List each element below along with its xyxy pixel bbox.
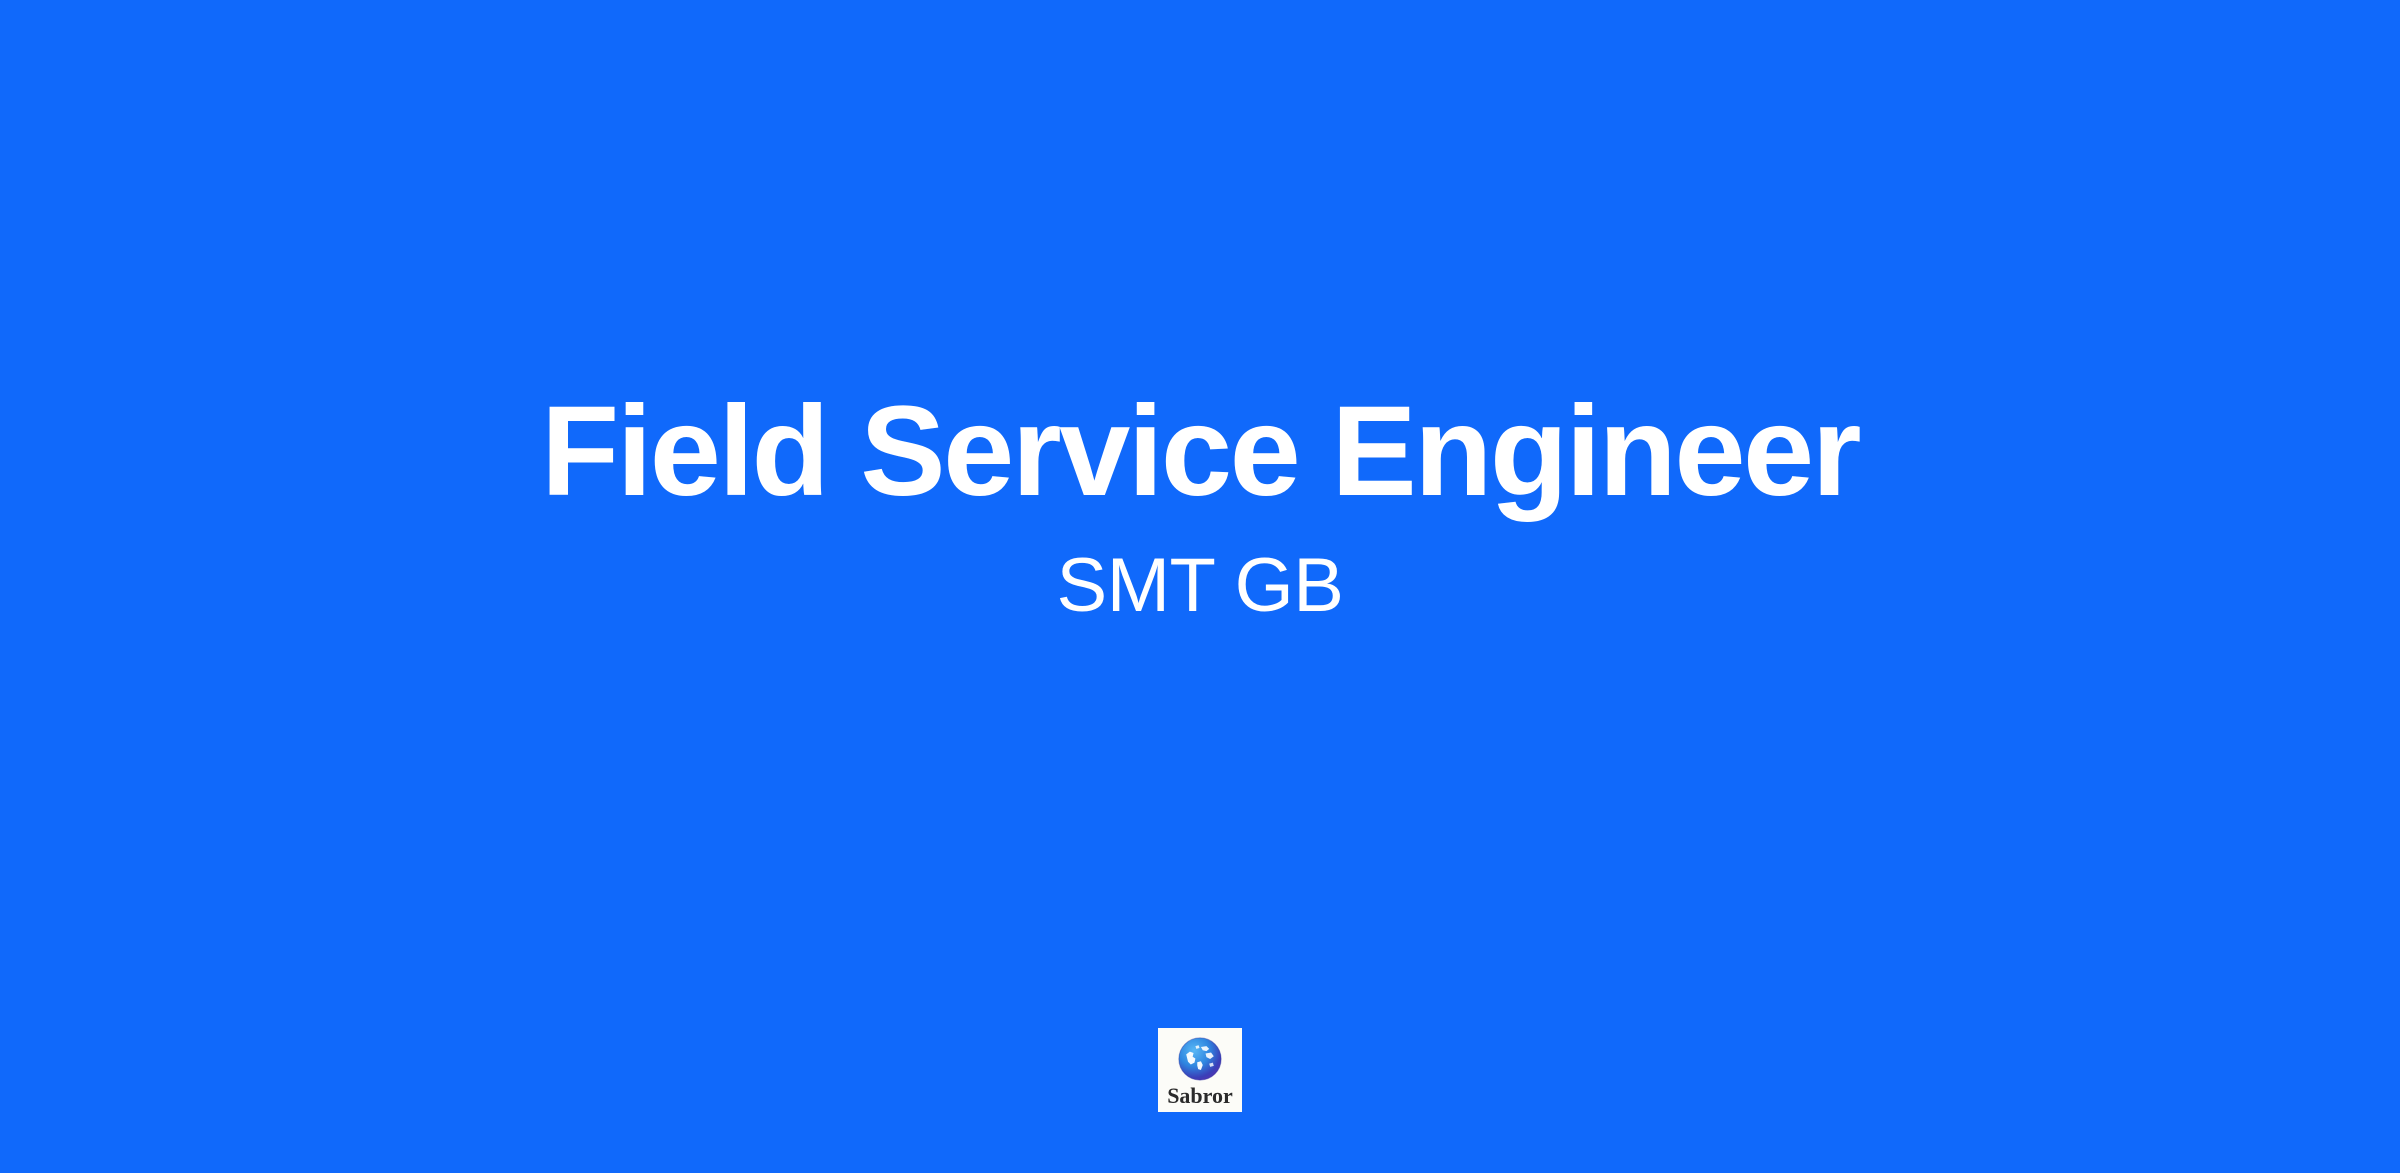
logo-wordmark: Sabror (1167, 1085, 1233, 1107)
globe-icon (1177, 1036, 1223, 1082)
sabror-logo: Sabror (1158, 1028, 1242, 1112)
page-title: Field Service Engineer (0, 383, 2400, 521)
title-block: Field Service Engineer SMT GB (0, 383, 2400, 628)
page-subtitle: SMT GB (0, 543, 2400, 628)
presentation-slide: Field Service Engineer SMT GB Sabror (0, 0, 2400, 1173)
